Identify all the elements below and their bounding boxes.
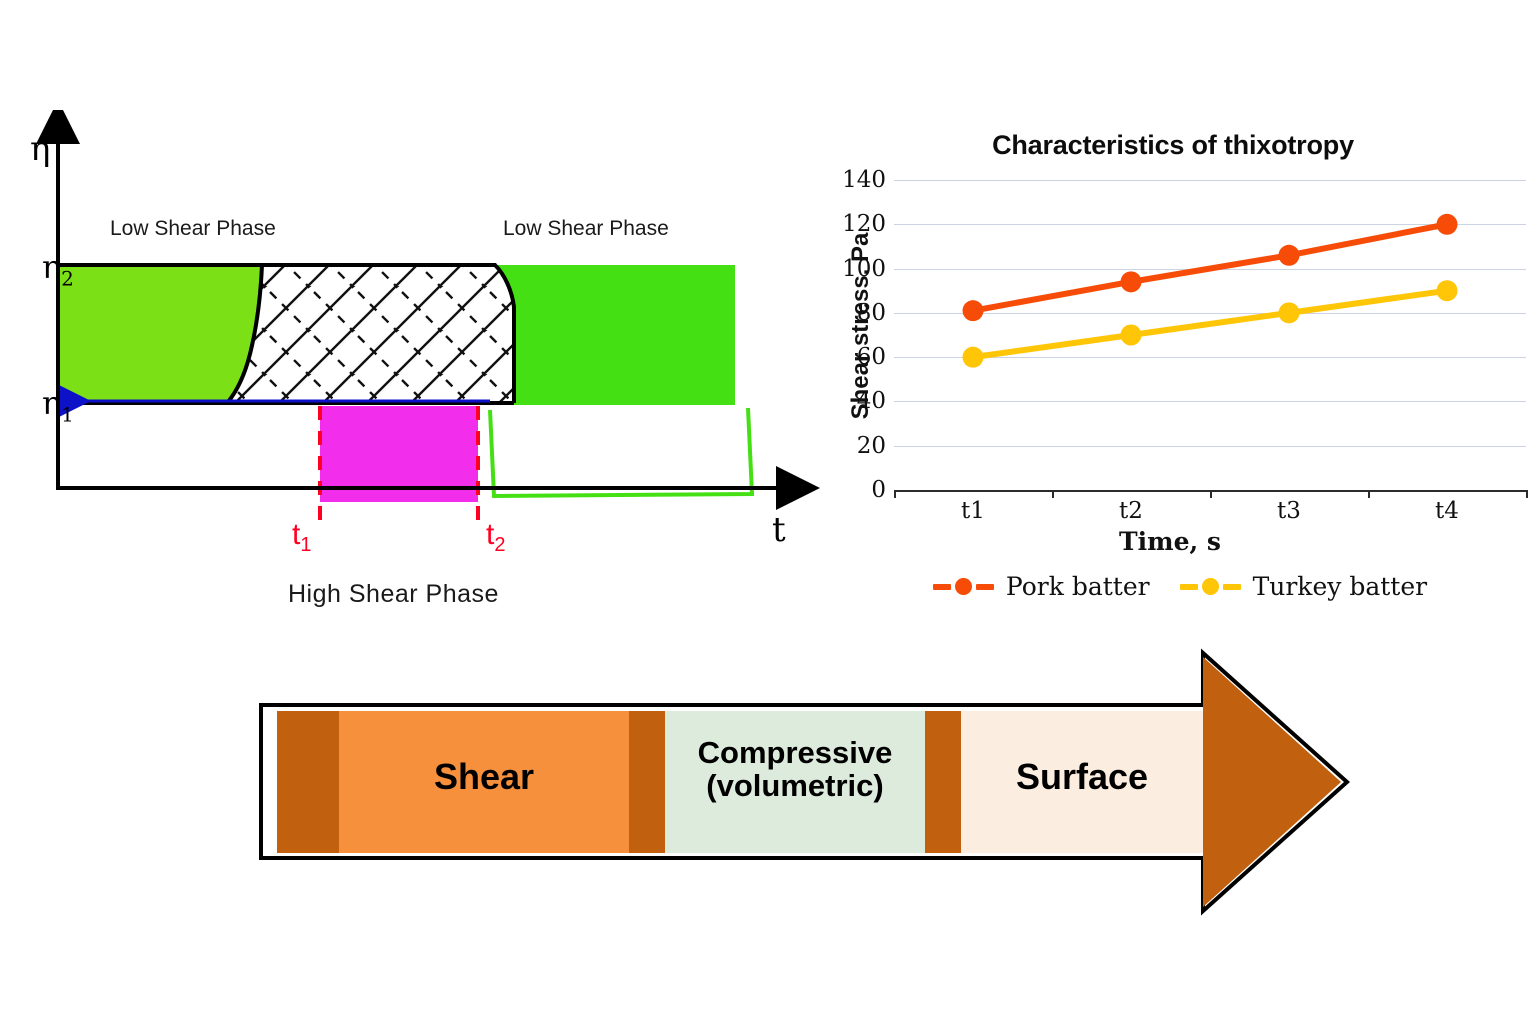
segment-surface-label: Surface: [961, 758, 1203, 796]
legend-marker-icon: [1202, 578, 1219, 595]
hatched-transition-region: [222, 265, 514, 402]
time-axis-label: t: [772, 510, 786, 550]
x-tick-label: t1: [933, 498, 1013, 524]
x-tick-mark: [894, 490, 896, 498]
thixotropy-svg: [0, 110, 820, 630]
data-point: [1279, 302, 1300, 323]
y-tick-label: 100: [816, 256, 886, 282]
y-tick-label: 20: [816, 433, 886, 459]
x-tick-label: t4: [1407, 498, 1487, 524]
recovery-green-region: [488, 265, 735, 405]
x-tick-label: t3: [1249, 498, 1329, 524]
chart-title: Characteristics of thixotropy: [810, 130, 1536, 161]
y-tick-label: 120: [816, 211, 886, 237]
legend-label: Pork batter: [1006, 572, 1150, 601]
x-tick-mark: [1368, 490, 1370, 498]
legend-dash-icon: [976, 584, 994, 590]
legend-label: Turkey batter: [1253, 572, 1428, 601]
segment-compressive-line1: Compressive: [659, 737, 931, 770]
y-tick-label: 140: [816, 167, 886, 193]
eta2-symbol: η: [42, 248, 61, 286]
data-point: [963, 300, 984, 321]
y-tick-label: 60: [816, 344, 886, 370]
eta1-subscript: 1: [61, 402, 74, 426]
legend-item-0[interactable]: Pork batter: [933, 572, 1150, 601]
eta1-tick-label: η1: [42, 384, 74, 426]
eta-axis-label: η: [30, 132, 50, 166]
x-tick-mark: [1210, 490, 1212, 498]
low-shear-phase-right-label: Low Shear Phase: [503, 217, 669, 241]
x-tick-mark: [1526, 490, 1528, 498]
legend-item-1[interactable]: Turkey batter: [1180, 572, 1428, 601]
chart-legend: Pork batterTurkey batter: [870, 572, 1490, 601]
series-plot: [894, 180, 1526, 490]
y-tick-label: 40: [816, 388, 886, 414]
x-tick-mark: [1052, 490, 1054, 498]
low-shear-phase-left-label: Low Shear Phase: [110, 217, 276, 241]
eta2-subscript: 2: [61, 266, 74, 290]
recovery-outline-box: [490, 408, 752, 496]
data-point: [1437, 280, 1458, 301]
divider-band-0: [277, 711, 339, 853]
arrow-head-fill: [1203, 657, 1341, 907]
stress-types-arrow: Shear Compressive (volumetric) Surface: [255, 645, 1365, 920]
thixotropy-schematic: η η2 η1 t Low Shear Phase Low Shear Phas…: [0, 110, 820, 630]
data-point: [1121, 325, 1142, 346]
data-point: [1279, 245, 1300, 266]
thixotropy-line-chart: Characteristics of thixotropy Shear stre…: [810, 120, 1536, 620]
x-tick-label: t2: [1091, 498, 1171, 524]
segment-shear-label: Shear: [339, 758, 629, 796]
y-tick-label: 80: [816, 300, 886, 326]
segment-compressive-line2: (volumetric): [659, 770, 931, 803]
data-point: [963, 347, 984, 368]
data-point: [1437, 214, 1458, 235]
y-tick-label: 0: [816, 477, 886, 503]
eta1-symbol: η: [42, 384, 61, 422]
segment-compressive-label: Compressive (volumetric): [659, 737, 931, 802]
t1-subscript: 1: [300, 534, 311, 556]
t2-label: t2: [486, 518, 505, 557]
legend-dash-icon: [1223, 584, 1241, 590]
legend-dash-icon: [933, 584, 951, 590]
high-shear-phase-label: High Shear Phase: [288, 580, 499, 609]
x-axis-title: Time, s: [900, 527, 1440, 556]
initial-green-region: [58, 265, 262, 402]
t2-subscript: 2: [494, 534, 505, 556]
eta2-tick-label: η2: [42, 248, 74, 290]
t1-label: t1: [292, 518, 311, 557]
figure-canvas: η η2 η1 t Low Shear Phase Low Shear Phas…: [0, 0, 1536, 1024]
legend-marker-icon: [955, 578, 972, 595]
plot-area: 020406080100120140 t1t2t3t4: [894, 180, 1526, 490]
data-point: [1121, 271, 1142, 292]
legend-dash-icon: [1180, 584, 1198, 590]
